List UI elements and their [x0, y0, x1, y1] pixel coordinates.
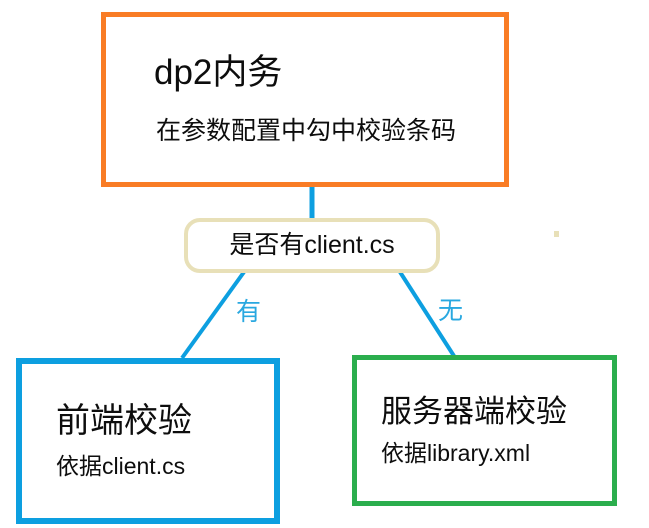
- node-root-subtitle: 在参数配置中勾中校验条码: [154, 118, 504, 144]
- edge-label-no: 无: [438, 299, 463, 324]
- node-client-validation[interactable]: 前端校验 依据client.cs: [16, 358, 280, 524]
- node-root-title: dp2内务: [154, 55, 504, 92]
- diagram-canvas: dp2内务 在参数配置中勾中校验条码 是否有client.cs 有 无 前端校验…: [0, 0, 649, 528]
- node-server-validation[interactable]: 服务器端校验 依据library.xml: [352, 355, 617, 506]
- stray-dot-artifact: [554, 231, 559, 237]
- node-client-title: 前端校验: [56, 404, 274, 440]
- node-server-title: 服务器端校验: [381, 396, 612, 429]
- node-root[interactable]: dp2内务 在参数配置中勾中校验条码: [101, 12, 509, 187]
- edge-label-yes: 有: [236, 300, 261, 325]
- edge-decision-to-client: [182, 272, 244, 358]
- node-server-subtitle: 依据library.xml: [381, 441, 612, 465]
- node-decision[interactable]: 是否有client.cs: [184, 218, 440, 273]
- node-decision-title: 是否有client.cs: [229, 232, 394, 258]
- node-client-subtitle: 依据client.cs: [56, 454, 274, 478]
